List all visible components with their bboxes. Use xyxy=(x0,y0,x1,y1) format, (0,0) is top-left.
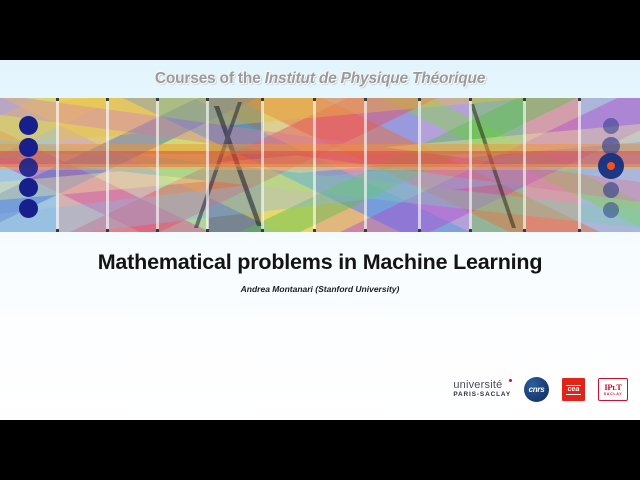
letterbox-top xyxy=(0,0,640,60)
logo-ups-line2: PARIS-SACLAY xyxy=(453,392,511,398)
slide-subtitle: Andrea Montanari (Stanford University) xyxy=(0,284,640,294)
presentation-slide: Courses of the Institut de Physique Théo… xyxy=(0,60,640,420)
banner-divider xyxy=(364,98,367,232)
logo-cea-text: cea xyxy=(566,385,582,395)
banner-divider xyxy=(106,98,109,232)
banner-divider xyxy=(206,98,209,232)
banner-circle-left xyxy=(19,116,38,135)
logo-cnrs: cnrs xyxy=(524,377,549,402)
header-title: Courses of the Institut de Physique Théo… xyxy=(0,70,640,88)
banner-divider xyxy=(523,98,526,232)
banner-divider xyxy=(156,98,159,232)
banner-stripes xyxy=(0,98,640,232)
banner-circle-left xyxy=(19,138,38,157)
logo-cnrs-text: cnrs xyxy=(529,385,545,394)
page-title: Mathematical problems in Machine Learnin… xyxy=(0,250,640,275)
banner-divider xyxy=(261,98,264,232)
decorative-banner xyxy=(0,98,640,232)
logo-cea: cea xyxy=(562,378,585,401)
banner-divider xyxy=(469,98,472,232)
logo-ups-line1: université xyxy=(453,380,502,391)
logo-row: université PARIS-SACLAY cnrs cea IPʟT SA… xyxy=(453,377,628,402)
banner-circle-left xyxy=(19,158,38,177)
banner-divider xyxy=(313,98,316,232)
banner-circle-right xyxy=(603,182,619,198)
banner-divider xyxy=(418,98,421,232)
accent-dot-icon xyxy=(509,379,512,382)
video-frame: Courses of the Institut de Physique Théo… xyxy=(0,0,640,480)
banner-divider xyxy=(56,98,59,232)
banner-circle-left xyxy=(19,178,38,197)
logo-ipht-line2: SACLAY xyxy=(604,392,623,397)
header-title-prefix: Courses of the xyxy=(155,70,265,87)
letterbox-bottom xyxy=(0,420,640,480)
banner-circle-right-dot xyxy=(607,162,615,170)
banner-circle-right xyxy=(603,118,619,134)
logo-ipht-line1: IPʟT xyxy=(604,383,621,392)
header-title-institute: Institut de Physique Théorique xyxy=(265,70,486,87)
logo-ipht-saclay: IPʟT SACLAY xyxy=(598,378,628,401)
banner-divider xyxy=(578,98,581,232)
banner-circle-right xyxy=(603,202,619,218)
logo-universite-paris-saclay: université PARIS-SACLAY xyxy=(453,380,511,398)
banner-circle-left xyxy=(19,199,38,218)
